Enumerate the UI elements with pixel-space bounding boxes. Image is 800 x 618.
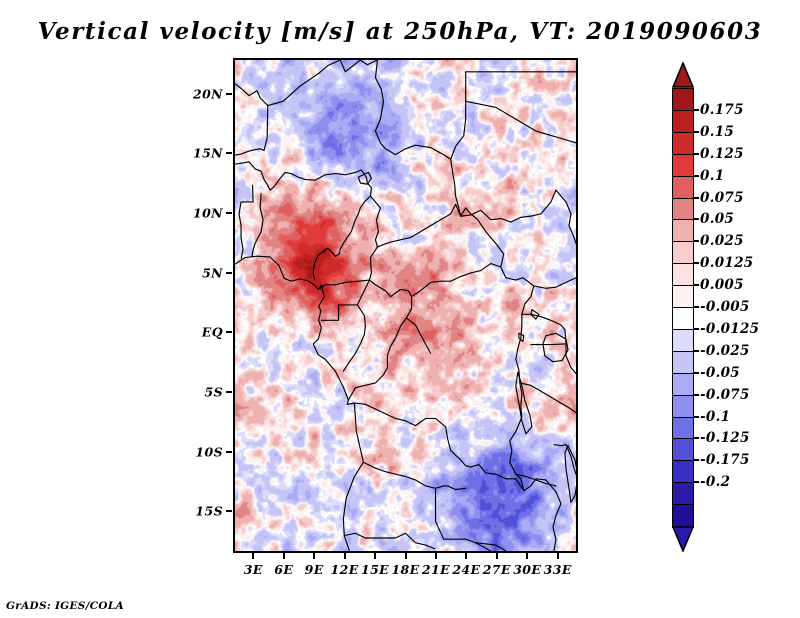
colorbar-tick — [694, 394, 699, 396]
x-axis-tick — [344, 553, 346, 559]
colorbar-swatch — [672, 154, 694, 178]
colorbar-swatch — [672, 307, 694, 331]
x-axis-tick — [252, 553, 254, 559]
colorbar-tick — [694, 372, 699, 374]
y-axis-label: EQ — [173, 325, 223, 340]
colorbar-label: -0.175 — [700, 452, 750, 468]
colorbar-tick — [694, 109, 699, 111]
y-axis-label: 20N — [173, 86, 223, 101]
colorbar-swatch — [672, 482, 694, 506]
y-axis-label: 10N — [173, 206, 223, 221]
colorbar-swatch — [672, 132, 694, 156]
colorbar-label: -0.075 — [700, 387, 750, 403]
vertical-velocity-field — [235, 60, 576, 551]
colorbar-arrow-top — [672, 62, 694, 88]
colorbar-swatch — [672, 438, 694, 462]
x-axis-label: 9E — [305, 562, 324, 577]
colorbar-tick — [694, 153, 699, 155]
colorbar-swatch — [672, 504, 694, 528]
colorbar-tick — [694, 197, 699, 199]
x-axis-label: 6E — [274, 562, 293, 577]
colorbar-tick — [694, 459, 699, 461]
colorbar-tick — [694, 350, 699, 352]
colorbar-arrow-bottom — [672, 526, 694, 552]
colorbar-swatch — [672, 373, 694, 397]
y-axis-tick — [226, 152, 232, 154]
y-axis-tick — [226, 391, 232, 393]
footer-credit: GrADS: IGES/COLA — [6, 600, 124, 612]
colorbar-swatch — [672, 263, 694, 287]
x-axis-tick — [496, 553, 498, 559]
colorbar-tick — [694, 262, 699, 264]
page-title: Vertical velocity [m/s] at 250hPa, VT: 2… — [0, 18, 800, 45]
colorbar-label: -0.125 — [700, 430, 750, 446]
x-axis-label: 24E — [452, 562, 480, 577]
map-plot-area — [233, 58, 578, 553]
colorbar-swatch — [672, 176, 694, 200]
colorbar-label: 0.15 — [700, 124, 734, 140]
x-axis-tick — [526, 553, 528, 559]
x-axis-tick — [405, 553, 407, 559]
y-axis-tick — [226, 451, 232, 453]
y-axis-label: 15S — [173, 504, 223, 519]
colorbar-label: 0.005 — [700, 277, 744, 293]
x-axis-tick — [557, 553, 559, 559]
colorbar — [672, 88, 694, 526]
y-axis-label: 10S — [173, 444, 223, 459]
colorbar-tick — [694, 240, 699, 242]
x-axis-tick — [283, 553, 285, 559]
colorbar-swatch — [672, 351, 694, 375]
colorbar-tick — [694, 131, 699, 133]
colorbar-label: 0.125 — [700, 146, 744, 162]
colorbar-label: -0.005 — [700, 299, 750, 315]
colorbar-label: 0.075 — [700, 190, 744, 206]
colorbar-label: 0.05 — [700, 211, 734, 227]
colorbar-swatch — [672, 241, 694, 265]
x-axis-label: 30E — [513, 562, 541, 577]
x-axis-tick — [465, 553, 467, 559]
x-axis-label: 3E — [244, 562, 263, 577]
y-axis-label: 5N — [173, 265, 223, 280]
x-axis-label: 27E — [483, 562, 511, 577]
x-axis-tick — [313, 553, 315, 559]
colorbar-swatch — [672, 285, 694, 309]
y-axis-tick — [226, 212, 232, 214]
colorbar-tick — [694, 328, 699, 330]
y-axis-tick — [226, 93, 232, 95]
colorbar-tick — [694, 306, 699, 308]
y-axis-tick — [226, 272, 232, 274]
colorbar-swatch — [672, 110, 694, 134]
x-axis-label: 18E — [391, 562, 419, 577]
colorbar-tick — [694, 175, 699, 177]
colorbar-tick — [694, 218, 699, 220]
x-axis-label: 33E — [544, 562, 572, 577]
colorbar-tick — [694, 284, 699, 286]
colorbar-label: -0.05 — [700, 365, 740, 381]
colorbar-label: -0.1 — [700, 409, 730, 425]
colorbar-label: 0.175 — [700, 102, 744, 118]
colorbar-tick — [694, 437, 699, 439]
colorbar-label: 0.025 — [700, 233, 744, 249]
y-axis-label: 15N — [173, 146, 223, 161]
colorbar-swatch — [672, 395, 694, 419]
x-axis-tick — [374, 553, 376, 559]
colorbar-label: -0.025 — [700, 343, 750, 359]
colorbar-swatch — [672, 329, 694, 353]
colorbar-swatch — [672, 219, 694, 243]
x-axis-label: 12E — [331, 562, 359, 577]
colorbar-swatch — [672, 417, 694, 441]
y-axis-tick — [226, 510, 232, 512]
y-axis-tick — [226, 331, 232, 333]
colorbar-tick — [694, 481, 699, 483]
colorbar-label: 0.1 — [700, 168, 724, 184]
colorbar-tick — [694, 416, 699, 418]
colorbar-label: -0.2 — [700, 474, 730, 490]
x-axis-label: 21E — [422, 562, 450, 577]
colorbar-swatch — [672, 460, 694, 484]
colorbar-label: -0.0125 — [700, 321, 759, 337]
colorbar-swatch — [672, 88, 694, 112]
colorbar-swatch — [672, 198, 694, 222]
colorbar-label: 0.0125 — [700, 255, 753, 271]
y-axis-label: 5S — [173, 384, 223, 399]
x-axis-tick — [435, 553, 437, 559]
x-axis-label: 15E — [361, 562, 389, 577]
